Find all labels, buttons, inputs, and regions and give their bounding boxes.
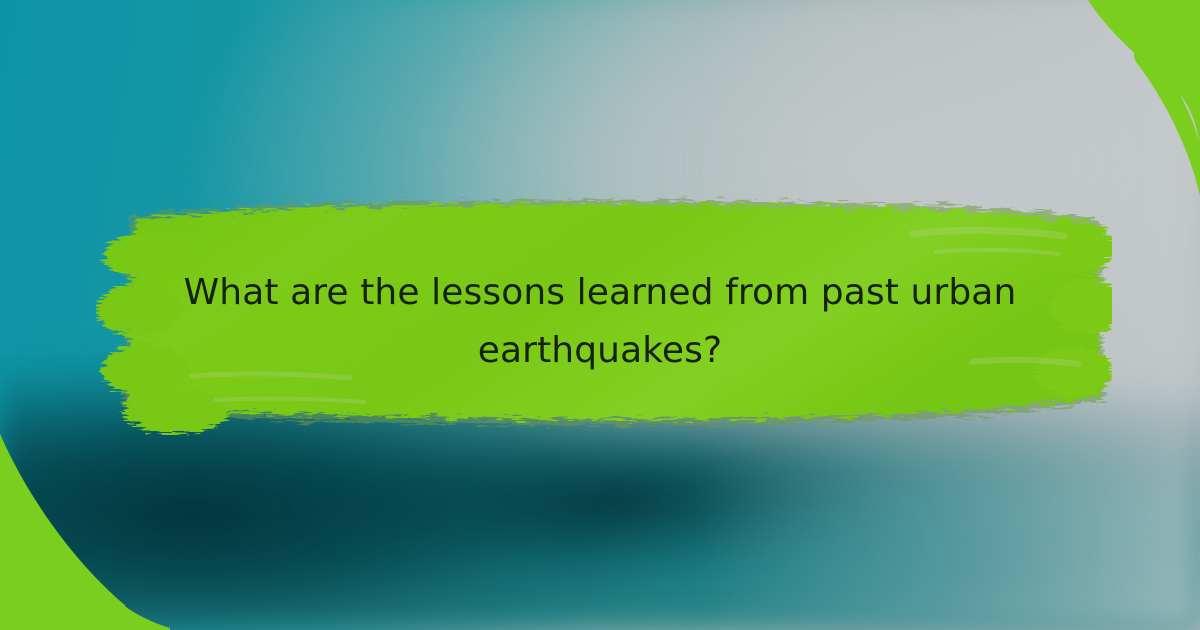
- headline-text: What are the lessons learned from past u…: [120, 264, 1080, 380]
- quote-card: What are the lessons learned from past u…: [0, 0, 1200, 630]
